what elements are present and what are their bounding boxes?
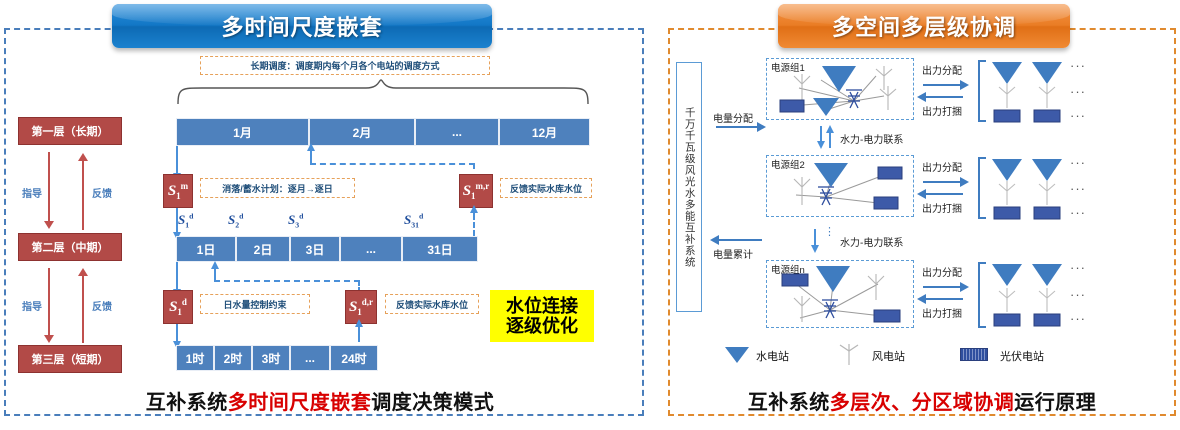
month-to-day-arrow bbox=[176, 208, 178, 233]
pv-panel-icon bbox=[878, 167, 902, 179]
hydro-triangle-icon bbox=[1032, 264, 1062, 286]
highlight-line-2: 逐级优化 bbox=[506, 316, 578, 336]
state-symbol-month: S1m bbox=[168, 181, 188, 201]
wind-turbine-icon bbox=[999, 84, 1015, 108]
alloc-label-2: 出力分配 bbox=[922, 159, 962, 174]
month-feedback-dash-h bbox=[310, 163, 475, 165]
legend-label-wind: 风电站 bbox=[872, 348, 905, 364]
link-label-2: 水力-电力联系 bbox=[840, 234, 903, 249]
level-label-1: 第一层（长期） bbox=[32, 123, 109, 139]
right-caption-post: 运行原理 bbox=[1014, 392, 1096, 414]
pv-panel-icon bbox=[874, 310, 900, 322]
state-symbol-month-feedback: S1m,r bbox=[463, 181, 490, 201]
left-caption-pre: 互补系统 bbox=[146, 392, 228, 414]
flow-in-arrow bbox=[716, 126, 758, 128]
right-caption: 互补系统多层次、分区域协调运行原理 bbox=[668, 386, 1176, 415]
legend-pv-icon bbox=[960, 348, 988, 361]
right-banner-title: 多空间多层级协调 bbox=[832, 10, 1016, 42]
feedback-arrow-2 bbox=[82, 275, 84, 343]
level-box-2: 第二层（中期） bbox=[18, 233, 122, 261]
level-box-1: 第一层（长期） bbox=[18, 117, 122, 145]
bundle-arrow-1 bbox=[925, 96, 963, 98]
wind-turbine-icon bbox=[794, 296, 810, 322]
wind-turbine-icon bbox=[1039, 181, 1055, 205]
hour-cell: ... bbox=[290, 345, 330, 371]
flow-in-label: 电量分配 bbox=[713, 110, 753, 125]
month-cell: 2月 bbox=[309, 118, 415, 146]
wind-turbine-icon bbox=[794, 74, 810, 102]
day-feedback-dash-h bbox=[214, 280, 360, 282]
bundle-label-1: 出力打捆 bbox=[922, 103, 962, 118]
state-symbol-day-feedback: S1d,r bbox=[349, 297, 373, 317]
pv-panel-icon bbox=[994, 110, 1020, 122]
row-dots: ··· bbox=[1070, 287, 1086, 302]
row-dots: ··· bbox=[1070, 311, 1086, 326]
group-brace-left-2 bbox=[978, 157, 986, 219]
hydro-triangle-icon bbox=[816, 266, 850, 292]
link-arrows-2: ⋮ bbox=[812, 229, 836, 255]
bundle-arrow-2 bbox=[925, 193, 963, 195]
row-dots: ··· bbox=[1070, 260, 1086, 275]
pv-panel-icon bbox=[1034, 207, 1060, 219]
state-box-day: S1d bbox=[163, 290, 193, 324]
hydro-triangle-icon bbox=[822, 66, 856, 92]
substation-tower-icon bbox=[846, 90, 862, 108]
legend-wind-icon bbox=[836, 344, 862, 366]
month-to-state-arrow bbox=[176, 146, 178, 174]
day-state-label: S31d bbox=[404, 212, 423, 230]
alloc-arrow-n bbox=[923, 286, 961, 288]
month-cell: ... bbox=[415, 118, 499, 146]
day-feedback-arrow bbox=[214, 268, 216, 281]
power-group-diagram-n bbox=[766, 260, 914, 328]
hydro-triangle-icon bbox=[992, 159, 1022, 181]
day-state-label: S3d bbox=[288, 212, 303, 230]
day-feedback-note: 反馈实际水库水位 bbox=[385, 294, 479, 314]
guide-arrow-2 bbox=[48, 268, 50, 336]
day-state-label: S1d bbox=[178, 212, 193, 230]
group-brace-left-1 bbox=[978, 60, 986, 122]
row-dots: ··· bbox=[1070, 84, 1086, 99]
group-brace-left-n bbox=[978, 262, 986, 328]
bundle-arrow-n bbox=[925, 298, 963, 300]
alloc-label-n: 出力分配 bbox=[922, 264, 962, 279]
day-cell: ... bbox=[340, 236, 402, 262]
substation-tower-icon bbox=[822, 300, 838, 318]
row-dots: ··· bbox=[1070, 108, 1086, 123]
level-label-3: 第三层（短期） bbox=[32, 351, 109, 367]
day-constraint-note: 日水量控制约束 bbox=[200, 294, 310, 314]
left-banner-title: 多时间尺度嵌套 bbox=[221, 10, 382, 42]
day-cell: 3日 bbox=[290, 236, 340, 262]
legend-label-pv: 光伏电站 bbox=[1000, 348, 1044, 364]
left-caption-highlight: 多时间尺度嵌套 bbox=[228, 392, 372, 414]
row-dots: ··· bbox=[1070, 181, 1086, 196]
hour-cell: 2时 bbox=[214, 345, 252, 371]
state-symbol-day: S1d bbox=[169, 297, 187, 317]
month-feedback-arrow bbox=[310, 150, 312, 164]
guide-arrow-1 bbox=[48, 152, 50, 222]
month-cell: 1月 bbox=[176, 118, 309, 146]
alloc-arrow-2 bbox=[923, 181, 961, 183]
wind-turbine-icon bbox=[880, 86, 896, 110]
right-caption-highlight: 多层次、分区域协调 bbox=[830, 392, 1015, 414]
long-term-note: 长期调度：调度期内每个月各个电站的调度方式 bbox=[200, 56, 490, 75]
substation-tower-icon bbox=[818, 187, 834, 205]
wind-turbine-icon bbox=[876, 66, 892, 90]
legend-label-hydro: 水电站 bbox=[756, 348, 789, 364]
flow-out-arrow bbox=[718, 239, 762, 241]
left-panel-banner: 多时间尺度嵌套 bbox=[112, 4, 492, 48]
day-to-hour-arrow bbox=[176, 324, 178, 342]
hour-feedback-arrow bbox=[358, 326, 360, 342]
system-vertical-label-text: 千万千瓦级风光水多能互补系统 bbox=[682, 107, 695, 268]
alloc-label-1: 出力分配 bbox=[922, 62, 962, 77]
hydro-triangle-icon bbox=[992, 264, 1022, 286]
right-panel-banner: 多空间多层级协调 bbox=[778, 4, 1070, 48]
pv-panel-icon bbox=[780, 100, 804, 112]
bundle-label-n: 出力打捆 bbox=[922, 305, 962, 320]
left-caption-post: 调度决策模式 bbox=[371, 392, 494, 414]
state-box-month-feedback: S1m,r bbox=[459, 174, 493, 208]
hour-cell: 1时 bbox=[176, 345, 214, 371]
month-plan-note: 消落/蓄水计划：逐月→逐日 bbox=[200, 178, 355, 198]
hydro-triangle-icon bbox=[814, 163, 848, 187]
pv-panel-icon bbox=[994, 314, 1020, 326]
level-label-2: 第二层（中期） bbox=[32, 239, 109, 255]
legend-hydro-icon bbox=[724, 346, 750, 364]
row-dots: ··· bbox=[1070, 155, 1086, 170]
flow-out-label: 电量累计 bbox=[713, 246, 753, 261]
system-vertical-label: 千万千瓦级风光水多能互补系统 bbox=[676, 62, 702, 312]
link-ellipsis: ⋮ bbox=[824, 229, 835, 235]
wind-turbine-icon bbox=[868, 274, 884, 300]
highlight-box: 水位连接 逐级优化 bbox=[490, 290, 594, 342]
left-caption: 互补系统多时间尺度嵌套调度决策模式 bbox=[0, 386, 640, 415]
pv-panel-icon bbox=[1034, 314, 1060, 326]
row-dots: ··· bbox=[1070, 205, 1086, 220]
month-cell: 12月 bbox=[499, 118, 590, 146]
hydro-triangle-icon bbox=[992, 62, 1022, 84]
pv-panel-icon bbox=[874, 197, 898, 209]
feedback-label-2: 反馈 bbox=[92, 298, 112, 313]
wind-turbine-icon bbox=[999, 288, 1015, 312]
state-box-month: S1m bbox=[163, 174, 193, 208]
highlight-line-1: 水位连接 bbox=[506, 296, 578, 316]
wind-turbine-icon bbox=[999, 181, 1015, 205]
hour-cell: 24时 bbox=[330, 345, 378, 371]
hydro-triangle-icon bbox=[1032, 159, 1062, 181]
day-to-state-arrow bbox=[176, 262, 178, 290]
day-cell: 2日 bbox=[236, 236, 290, 262]
hour-cell: 3时 bbox=[252, 345, 290, 371]
pv-panel-icon bbox=[994, 207, 1020, 219]
right-caption-pre: 互补系统 bbox=[748, 392, 830, 414]
pv-panel-icon bbox=[1034, 110, 1060, 122]
hydro-triangle-icon bbox=[1032, 62, 1062, 84]
alloc-arrow-1 bbox=[923, 84, 961, 86]
guide-label-1: 指导 bbox=[22, 185, 42, 200]
level-box-3: 第三层（短期） bbox=[18, 345, 122, 373]
bundle-label-2: 出力打捆 bbox=[922, 200, 962, 215]
day-state-label: S2d bbox=[228, 212, 243, 230]
link-arrows-1 bbox=[818, 126, 834, 150]
power-group-diagram-2 bbox=[766, 155, 914, 217]
row-dots: ··· bbox=[1070, 58, 1086, 73]
feedback-arrow-1 bbox=[82, 160, 84, 230]
feedback-label-1: 反馈 bbox=[92, 185, 112, 200]
link-label-1: 水力-电力联系 bbox=[840, 131, 903, 146]
day-to-month-arrow bbox=[473, 212, 475, 218]
guide-label-2: 指导 bbox=[22, 298, 42, 313]
day-cell: 31日 bbox=[402, 236, 478, 262]
month-brace bbox=[176, 78, 590, 106]
power-group-diagram-1 bbox=[766, 58, 914, 120]
pv-panel-icon bbox=[782, 274, 808, 286]
wind-turbine-icon bbox=[1039, 288, 1055, 312]
wind-turbine-icon bbox=[1039, 84, 1055, 108]
wind-turbine-icon bbox=[794, 177, 810, 205]
month-feedback-note: 反馈实际水库水位 bbox=[500, 178, 592, 198]
day-cell: 1日 bbox=[176, 236, 236, 262]
